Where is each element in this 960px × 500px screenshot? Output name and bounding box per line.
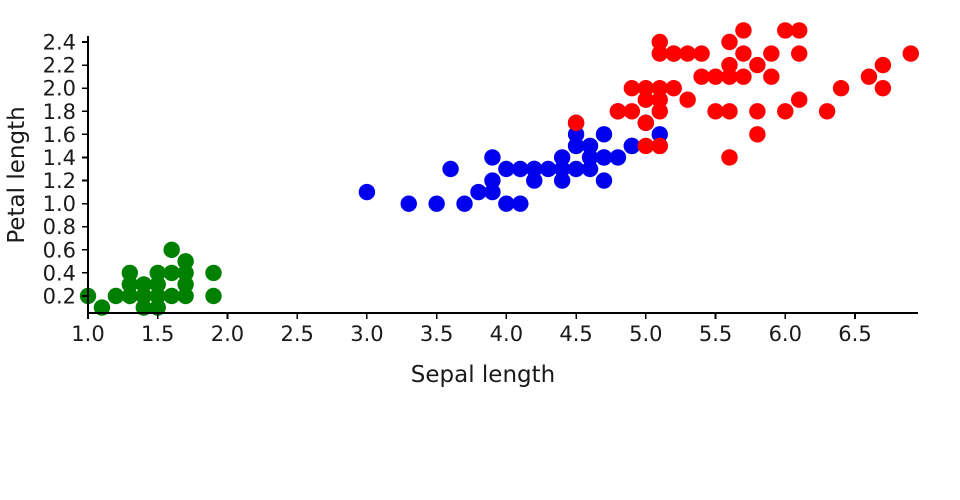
data-point <box>205 288 221 304</box>
data-point <box>498 195 514 211</box>
data-point <box>568 115 584 131</box>
data-point <box>136 276 152 292</box>
y-axis-label: Petal length <box>4 106 30 243</box>
data-point <box>624 103 640 119</box>
y-tick-label: 2.2 <box>43 54 76 78</box>
x-tick-label: 6.0 <box>769 322 802 346</box>
data-point <box>791 45 807 61</box>
data-point <box>819 103 835 119</box>
data-point <box>442 161 458 177</box>
data-point <box>735 45 751 61</box>
y-tick-label: 1.8 <box>43 100 76 124</box>
y-tick-label: 2.0 <box>43 77 76 101</box>
data-point <box>638 115 654 131</box>
data-point <box>456 195 472 211</box>
x-axis-ticks: 1.01.52.02.53.03.54.04.55.05.56.06.5 <box>71 313 871 346</box>
data-point <box>861 68 877 84</box>
y-axis-ticks: 0.20.40.60.81.01.21.41.61.82.02.22.4 <box>43 31 88 309</box>
data-point <box>791 22 807 38</box>
data-point <box>721 57 737 73</box>
x-tick-label: 5.5 <box>699 322 732 346</box>
data-point <box>652 138 668 154</box>
data-point <box>596 126 612 142</box>
data-point <box>777 22 793 38</box>
y-tick-label: 0.2 <box>43 285 76 309</box>
plot-canvas: 1.01.52.02.53.03.54.04.55.05.56.06.5 0.2… <box>0 0 960 500</box>
data-point <box>638 80 654 96</box>
x-axis-label: Sepal length <box>411 362 555 388</box>
data-point <box>693 45 709 61</box>
data-point <box>554 149 570 165</box>
data-point <box>359 184 375 200</box>
data-point <box>624 138 640 154</box>
data-point <box>652 34 668 50</box>
data-point <box>791 92 807 108</box>
y-tick-label: 1.2 <box>43 169 76 193</box>
data-point <box>401 195 417 211</box>
series-green-group <box>80 242 222 316</box>
data-point <box>484 172 500 188</box>
data-point <box>163 242 179 258</box>
y-tick-label: 0.8 <box>43 215 76 239</box>
x-tick-label: 3.0 <box>350 322 383 346</box>
x-tick-label: 5.0 <box>629 322 662 346</box>
data-point <box>666 80 682 96</box>
data-point <box>875 57 891 73</box>
data-point <box>833 80 849 96</box>
data-point <box>540 161 556 177</box>
x-tick-label: 4.5 <box>559 322 592 346</box>
data-point <box>596 172 612 188</box>
y-tick-label: 1.6 <box>43 123 76 147</box>
data-point <box>596 149 612 165</box>
data-point <box>470 184 486 200</box>
data-point <box>568 161 584 177</box>
data-point <box>108 288 124 304</box>
y-tick-label: 0.4 <box>43 261 76 285</box>
data-point <box>610 149 626 165</box>
data-point <box>707 103 723 119</box>
data-point <box>624 80 640 96</box>
data-point <box>749 103 765 119</box>
data-point <box>638 138 654 154</box>
data-point <box>749 126 765 142</box>
y-tick-label: 1.4 <box>43 146 76 170</box>
x-tick-label: 2.0 <box>211 322 244 346</box>
data-point <box>735 68 751 84</box>
data-point <box>721 149 737 165</box>
data-point <box>122 265 138 281</box>
data-point <box>679 92 695 108</box>
data-point <box>903 45 919 61</box>
x-tick-label: 1.0 <box>71 322 104 346</box>
data-point <box>205 265 221 281</box>
data-point <box>610 103 626 119</box>
data-point <box>693 68 709 84</box>
data-point <box>512 161 528 177</box>
series-blue-group <box>359 103 668 212</box>
data-point <box>512 195 528 211</box>
data-point <box>763 45 779 61</box>
data-point <box>428 195 444 211</box>
y-tick-label: 2.4 <box>43 31 76 55</box>
series-red-group <box>568 22 919 165</box>
x-tick-label: 2.5 <box>280 322 313 346</box>
data-point <box>484 149 500 165</box>
data-point <box>735 22 751 38</box>
data-point <box>526 161 542 177</box>
data-point <box>707 68 723 84</box>
data-point <box>875 80 891 96</box>
data-point <box>163 288 179 304</box>
data-point <box>582 138 598 154</box>
data-point <box>777 103 793 119</box>
data-points-layer <box>80 22 919 315</box>
x-tick-label: 4.0 <box>490 322 523 346</box>
data-point <box>721 103 737 119</box>
data-point <box>679 45 695 61</box>
scatter-plot-figure: 1.01.52.02.53.03.54.04.55.05.56.06.5 0.2… <box>0 0 960 500</box>
data-point <box>498 161 514 177</box>
data-point <box>721 34 737 50</box>
data-point <box>749 57 765 73</box>
data-point <box>763 68 779 84</box>
x-tick-label: 3.5 <box>420 322 453 346</box>
data-point <box>177 253 193 269</box>
y-tick-label: 0.6 <box>43 238 76 262</box>
x-tick-label: 6.5 <box>838 322 871 346</box>
data-point <box>652 80 668 96</box>
data-point <box>666 45 682 61</box>
data-point <box>163 265 179 281</box>
x-tick-label: 1.5 <box>141 322 174 346</box>
y-tick-label: 1.0 <box>43 192 76 216</box>
